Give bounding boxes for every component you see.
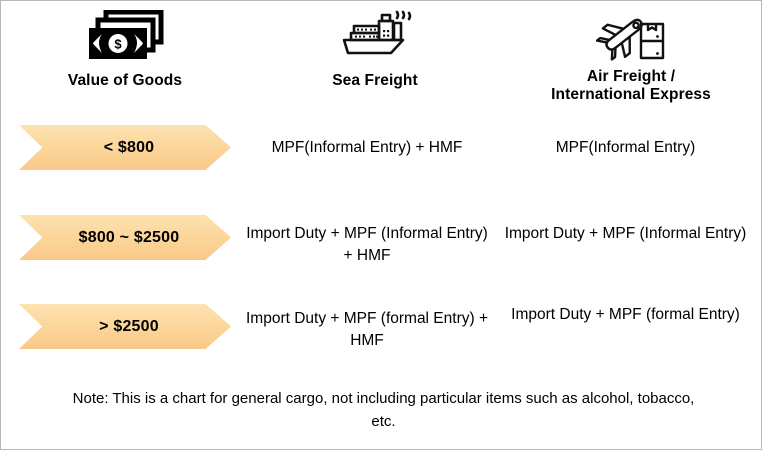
- column-title-air-freight: Air Freight / International Express: [551, 68, 711, 104]
- column-title-value-of-goods: Value of Goods: [68, 72, 182, 90]
- value-band-label: $800 ~ $2500: [71, 229, 180, 247]
- air-freight-title-line2: International Express: [551, 86, 711, 103]
- fee-cell-sea-freight: MPF(Informal Entry) + HMF: [241, 137, 493, 159]
- svg-text:$: $: [114, 37, 122, 52]
- fee-cell-sea-freight: Import Duty + MPF (formal Entry) + HMF: [241, 308, 493, 352]
- fee-cell-sea-freight: Import Duty + MPF (Informal Entry) + HMF: [241, 223, 493, 267]
- value-band-chevron: > $2500: [19, 304, 231, 349]
- fee-cell-air-freight: Import Duty + MPF (Informal Entry): [498, 223, 753, 245]
- air-freight-title-line1: Air Freight /: [587, 68, 675, 85]
- footnote: Note: This is a chart for general cargo,…: [61, 387, 706, 433]
- column-header-sea-freight: Sea Freight: [249, 1, 501, 111]
- column-header-value-of-goods: $ Value of Goods: [1, 1, 249, 111]
- column-header-air-freight: Air Freight / International Express: [501, 1, 761, 111]
- cargo-ship-icon: [335, 7, 415, 65]
- value-band-chevron: $800 ~ $2500: [19, 215, 231, 260]
- value-band-label: > $2500: [91, 318, 159, 336]
- fee-cell-air-freight: MPF(Informal Entry): [498, 137, 753, 159]
- value-band-chevron: < $800: [19, 125, 231, 170]
- header-row: $ Value of Goods: [1, 1, 761, 111]
- money-stack-icon: $: [86, 7, 164, 65]
- value-band-label: < $800: [96, 139, 155, 157]
- customs-fee-chart: $ Value of Goods: [0, 0, 762, 450]
- column-title-sea-freight: Sea Freight: [332, 72, 418, 90]
- fee-cell-air-freight: Import Duty + MPF (formal Entry): [498, 304, 753, 326]
- airplane-package-icon: [591, 7, 671, 65]
